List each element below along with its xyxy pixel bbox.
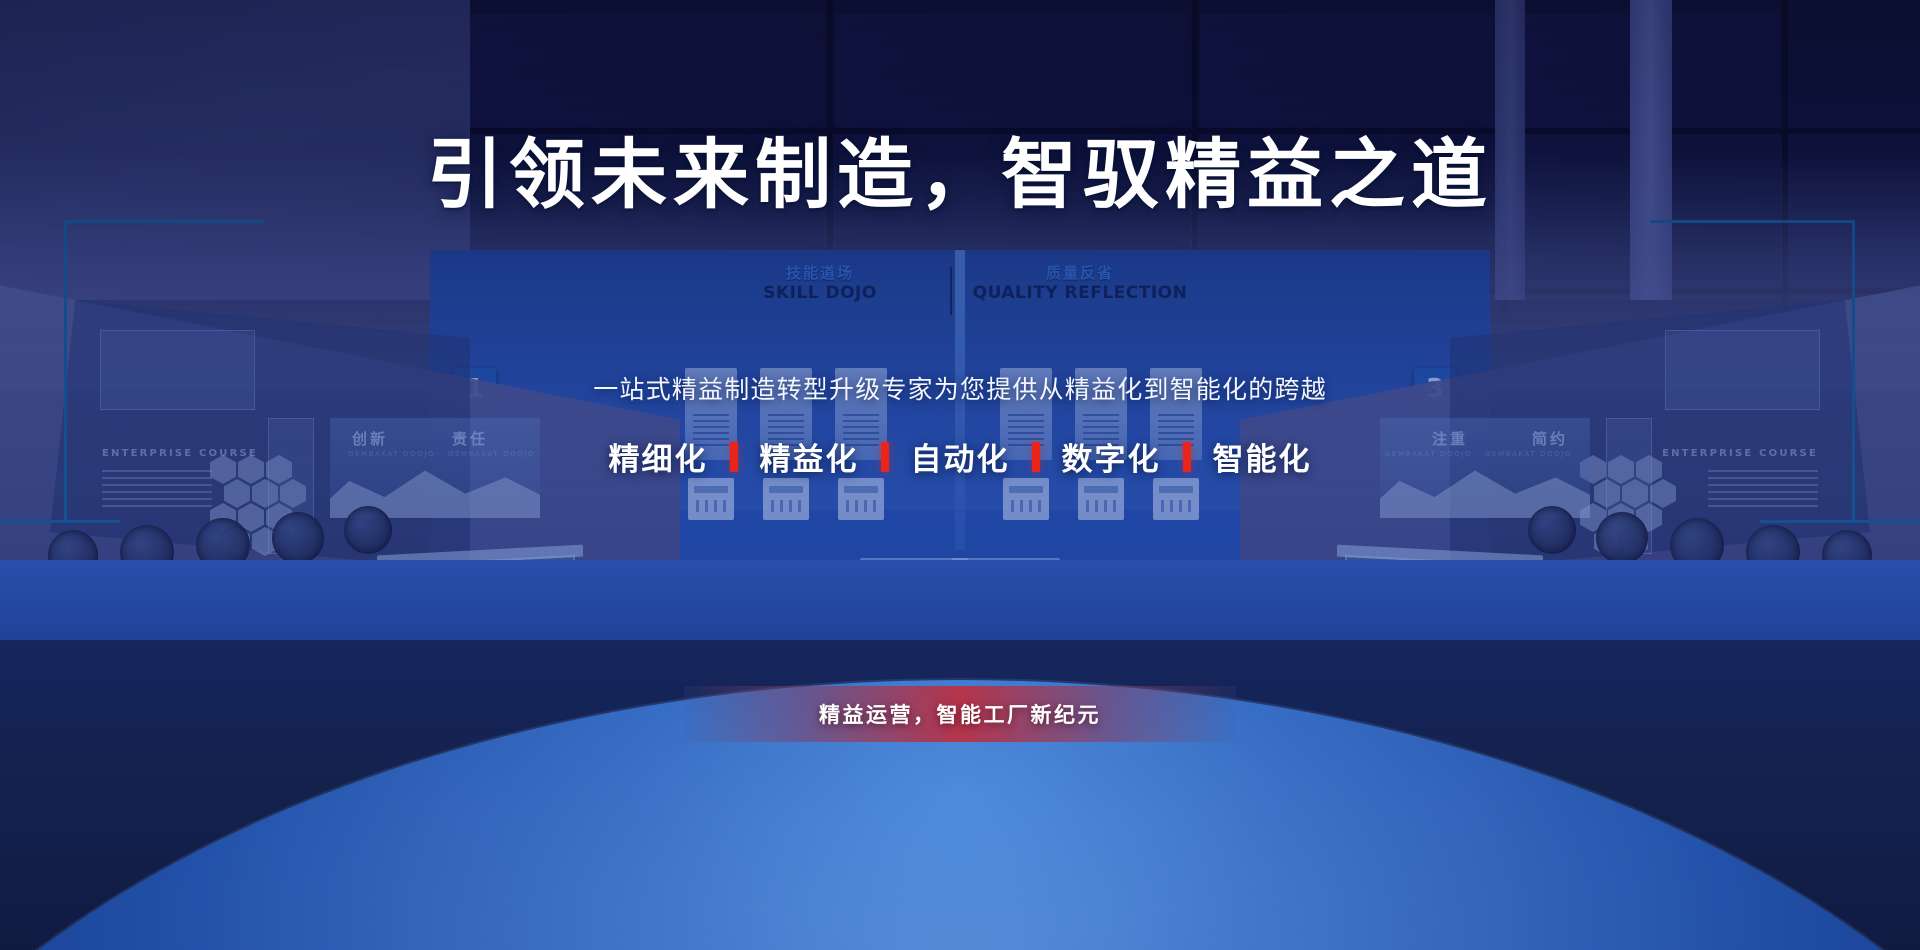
keyword-item-5: 智能化	[1213, 434, 1312, 479]
keyword-separator-icon	[881, 442, 889, 472]
page-title: 引领未来制造，智驭精益之道	[0, 134, 1920, 216]
hero-subtitle: 一站式精益制造转型升级专家为您提供从精益化到智能化的跨越	[0, 370, 1920, 406]
keyword-separator-icon	[1183, 442, 1191, 472]
hero-content: 引领未来制造，智驭精益之道 一站式精益制造转型升级专家为您提供从精益化到智能化的…	[0, 0, 1920, 950]
cta-banner-text: 精益运营，智能工厂新纪元	[819, 699, 1101, 729]
cta-banner[interactable]: 精益运营，智能工厂新纪元	[684, 686, 1236, 742]
keyword-item-4: 数字化	[1062, 434, 1161, 479]
keyword-item-1: 精细化	[609, 434, 708, 479]
keyword-separator-icon	[1032, 442, 1040, 472]
keyword-item-3: 自动化	[911, 434, 1010, 479]
keyword-list: 精细化 精益化 自动化 数字化 智能化	[0, 434, 1920, 479]
keyword-item-2: 精益化	[760, 434, 859, 479]
hero-banner-stage: 技能道场 SKILL DOJO 质量反省 QUALITY REFLECTION …	[0, 0, 1920, 950]
keyword-separator-icon	[730, 442, 738, 472]
